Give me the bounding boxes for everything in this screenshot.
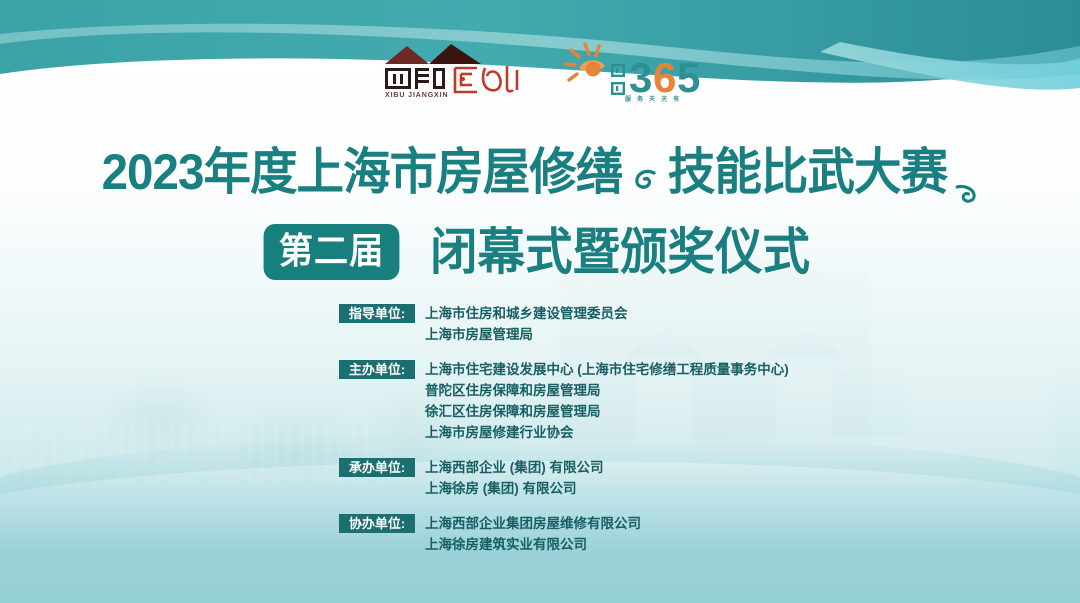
- title-line-1-part-b: 技能比武大赛: [668, 144, 947, 200]
- title-line-1-part-a: 2023年度上海市房屋修缮: [102, 144, 623, 200]
- logo-row: XIBU JIANGXIN: [0, 36, 1080, 108]
- organizer-value: 普陀区住房保障和房屋管理局: [425, 380, 789, 401]
- title-line-2: 第二届 闭幕式暨颁奖仪式: [0, 224, 1080, 280]
- organizer-value: 上海市住房和城乡建设管理委员会: [425, 303, 628, 324]
- poster-canvas: XIBU JIANGXIN: [0, 0, 1080, 603]
- organizer-value: 上海西部企业集团房屋维修有限公司: [425, 513, 641, 534]
- edition-badge: 第二届: [264, 224, 400, 280]
- organizer-label-badge: 主办单位:: [339, 360, 415, 379]
- title-ceremony-text: 闭幕式暨颁奖仪式: [430, 224, 810, 280]
- organizer-value: 上海徐房建筑实业有限公司: [425, 534, 641, 555]
- swirl-flourish-icon: [633, 146, 658, 206]
- organizer-value: 上海徐房 (集团) 有限公司: [425, 478, 604, 499]
- organizer-values: 上海市住宅建设发展中心 (上海市住宅修缮工程质量事务中心) 普陀区住房保障和房屋…: [425, 359, 789, 443]
- xibu-365-tagline: 服 务 天 天 有: [625, 94, 681, 103]
- organizer-value: 上海西部企业 (集团) 有限公司: [425, 457, 604, 478]
- poster-title: 2023年度上海市房屋修缮 技能比武大赛 第二届 闭幕式暨颁奖仪式: [0, 142, 1080, 280]
- organizer-row: 指导单位: 上海市住房和城乡建设管理委员会 上海市房屋管理局: [339, 303, 859, 345]
- xibu-jiangxin-pinyin: XIBU JIANGXIN: [385, 92, 448, 99]
- organizer-label-badge: 承办单位:: [339, 458, 415, 477]
- organizer-row: 承办单位: 上海西部企业 (集团) 有限公司 上海徐房 (集团) 有限公司: [339, 457, 859, 499]
- swirl-tail-icon: [956, 158, 979, 218]
- organizer-values: 上海西部企业 (集团) 有限公司 上海徐房 (集团) 有限公司: [425, 457, 604, 499]
- organizer-label-badge: 协办单位:: [339, 514, 415, 533]
- organizer-value: 上海市房屋管理局: [425, 324, 628, 345]
- organizer-values: 上海市住房和城乡建设管理委员会 上海市房屋管理局: [425, 303, 628, 345]
- title-line-1: 2023年度上海市房屋修缮 技能比武大赛: [27, 142, 1053, 218]
- organizer-list: 指导单位: 上海市住房和城乡建设管理委员会 上海市房屋管理局 主办单位: 上海市…: [339, 303, 859, 555]
- organizer-row: 协办单位: 上海西部企业集团房屋维修有限公司 上海徐房建筑实业有限公司: [339, 513, 859, 555]
- organizer-values: 上海西部企业集团房屋维修有限公司 上海徐房建筑实业有限公司: [425, 513, 641, 555]
- organizer-value: 徐汇区住房保障和房屋管理局: [425, 401, 789, 422]
- organizer-label-badge: 指导单位:: [339, 304, 415, 323]
- organizer-row: 主办单位: 上海市住宅建设发展中心 (上海市住宅修缮工程质量事务中心) 普陀区住…: [339, 359, 859, 443]
- organizer-value: 上海市住宅建设发展中心 (上海市住宅修缮工程质量事务中心): [425, 359, 789, 380]
- organizer-value: 上海市房屋修建行业协会: [425, 422, 789, 443]
- xibu-jiangxin-logo: XIBU JIANGXIN: [377, 38, 527, 108]
- xibu-365-logo: 3 6 5 服 务 天 天 有: [563, 38, 703, 108]
